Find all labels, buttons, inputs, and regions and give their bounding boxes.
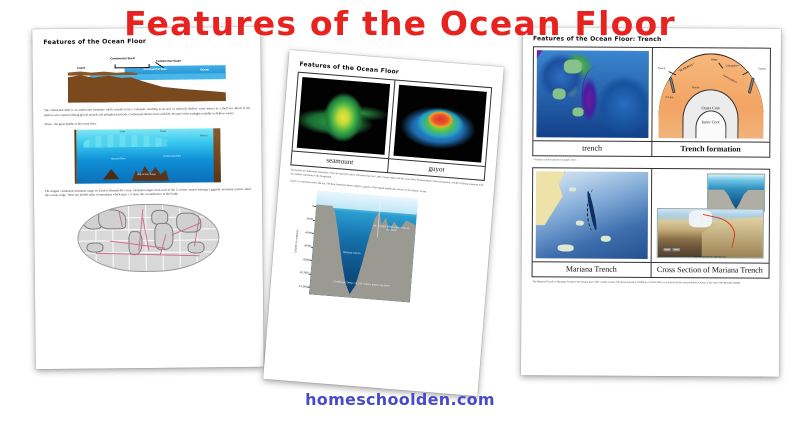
mariana-map-asia — [536, 171, 565, 225]
seamount-guyot-table: seamount guyot — [290, 72, 492, 181]
map-landmass-a — [564, 59, 582, 73]
continental-shelf-diagram: Continental Shelf Coast Continental Slop… — [67, 49, 226, 103]
abyss-seamount — [103, 169, 120, 180]
mariana-arc-cross-section: Cross-Section Sketch of Mariana Arc — [654, 172, 766, 260]
map-landmass-c — [572, 108, 583, 117]
guyot-cell: guyot — [388, 81, 491, 180]
guyot-bathymetry-image — [393, 85, 486, 163]
ytick-2000: -2000 — [306, 218, 313, 222]
trench-map-cell — [533, 47, 652, 141]
trench-image-row: Trench "SLAB PULL" Ridge Lithosphere Tre… — [533, 47, 770, 141]
earth-label-trench-left: Trench — [658, 67, 666, 70]
abyss-mid-ocean-ridge — [131, 162, 169, 181]
page-title: Features of the Ocean Floor — [0, 4, 800, 43]
caption-mariana-trench: Mariana Trench — [533, 261, 652, 277]
map-island-b — [576, 220, 584, 225]
label-continental-shelf: Continental Shelf — [110, 57, 135, 60]
earth-label-inner-core: Inner Core — [702, 119, 720, 124]
trench-footnote: *Atlantic trench is pictured in purple a… — [533, 158, 769, 162]
abyss-label-trench: Trench — [200, 135, 207, 138]
left-abyss-definition: Abyss - the great depths of the ocean fl… — [44, 120, 250, 127]
xsec-legend-swatch-a — [664, 248, 671, 251]
world-map-globe — [77, 203, 220, 272]
ocean-depth-profile-chart: Depth (in meters) 0 -2000 -4000 -6000 -8… — [292, 189, 418, 302]
map-island-c — [600, 236, 610, 242]
worksheet-page-left[interactable]: Features of the Ocean Floor Continental … — [32, 27, 264, 369]
map-island-a — [570, 187, 577, 191]
mariana-image-row: Cross-Section Sketch of Mariana Arc — [533, 168, 770, 262]
seamount-image-box — [293, 73, 395, 158]
label-continental-slope: Continental Slope — [156, 60, 181, 63]
earth-label-outer-core: Outer Core — [701, 105, 720, 110]
earth-label-ridge: Ridge — [711, 58, 717, 61]
worksheet-page-middle[interactable]: Features of the Ocean Floor seamount guy… — [263, 50, 504, 396]
trench-purple-arc — [581, 66, 606, 122]
abyss-label-shelf: Shelf — [119, 131, 125, 134]
abyss-label-slope: Slope — [160, 130, 166, 133]
earth-label-700km: 700 km — [665, 96, 673, 99]
worksheet-page-right[interactable]: Features of the Ocean Floor: Trench — [521, 27, 781, 377]
earth-cross-section-diagram: Trench "SLAB PULL" Ridge Lithosphere Tre… — [655, 51, 767, 139]
label-coast: Coast — [77, 66, 85, 69]
ytick-0: 0 — [312, 205, 314, 208]
ytick-10000: -10,000 — [299, 271, 309, 275]
site-watermark: homeschoolden.com — [0, 390, 800, 409]
guyot-image-box — [389, 81, 491, 166]
earth-inner-core — [695, 110, 726, 138]
ytick-6000: -6000 — [304, 245, 311, 249]
xsec-legend — [664, 247, 719, 252]
depth-chart-plot-area: Mt. Everest 8848 meters above sea level … — [309, 191, 418, 303]
mariana-cross-section-cell: Cross-Section Sketch of Mariana Arc — [651, 169, 769, 263]
mariana-map-cell — [533, 168, 652, 262]
left-paragraph-ridge: The longest continuous mountain range on… — [45, 187, 251, 198]
label-ocean: Ocean — [200, 68, 209, 71]
mid-ocean-ridge-world-map — [73, 201, 224, 275]
xsec-depth-inset — [707, 173, 765, 212]
earth-label-lithosphere: Lithosphere — [726, 64, 739, 67]
mariana-caption-row: Mariana Trench Cross Section of Mariana … — [533, 261, 769, 277]
earth-label-mantle: Mantle — [692, 86, 700, 89]
depth-chart-everest-marker — [376, 202, 407, 240]
abyss-block-diagram: Shelf Slope Abyssal Plain Continental Ri… — [74, 128, 221, 184]
ytick-11000: -11,000 — [298, 285, 308, 289]
trench-bathymetry-map — [536, 50, 648, 138]
mariana-table: Cross-Section Sketch of Mariana Arc Mari… — [532, 167, 771, 278]
caption-cross-section: Cross Section of Mariana Trench — [651, 262, 769, 278]
abyss-label-mid-ocean-ridge: Mid-Ocean Ridge — [137, 173, 156, 176]
seamount-cell: seamount — [291, 73, 395, 172]
trench-formation-cell: Trench "SLAB PULL" Ridge Lithosphere Tre… — [652, 48, 770, 142]
screenshot-canvas: Features of the Ocean Floor Continental … — [0, 0, 800, 423]
caption-trench-formation: Trench formation — [652, 141, 770, 157]
ytick-4000: -4000 — [305, 231, 312, 235]
seamount-bathymetry-image — [297, 77, 390, 155]
abyss-label-abyssal-plain: Abyssal Plain — [111, 157, 125, 160]
mariana-trench-map — [536, 171, 648, 259]
xsec-sketch-caption: Cross-Section Sketch of Mariana Arc — [657, 256, 762, 259]
xsec-legend-swatch-b — [673, 248, 680, 251]
earth-label-trench-right: Trench — [758, 67, 766, 70]
depth-annotation-mariana: Mariana Trench — [339, 251, 365, 256]
trench-caption-row: trench Trench formation — [533, 140, 769, 156]
trench-table: Trench "SLAB PULL" Ridge Lithosphere Tre… — [532, 46, 771, 157]
abyss-label-continental-rise: Continental Rise — [163, 154, 181, 157]
mariana-description: The Mariana Trench or Marianas Trench is… — [532, 280, 768, 285]
left-paragraph-shelf: The continental shelf is an underwater l… — [44, 106, 250, 117]
abyssal-shelf-shading — [84, 133, 168, 148]
map-island-australia — [558, 245, 574, 252]
ytick-8000: -8000 — [302, 258, 309, 262]
xsec-plate-diagram: Cross-Section Sketch of Mariana Arc — [656, 208, 763, 259]
caption-trench: trench — [533, 140, 652, 156]
map-landmass-b — [552, 89, 565, 100]
